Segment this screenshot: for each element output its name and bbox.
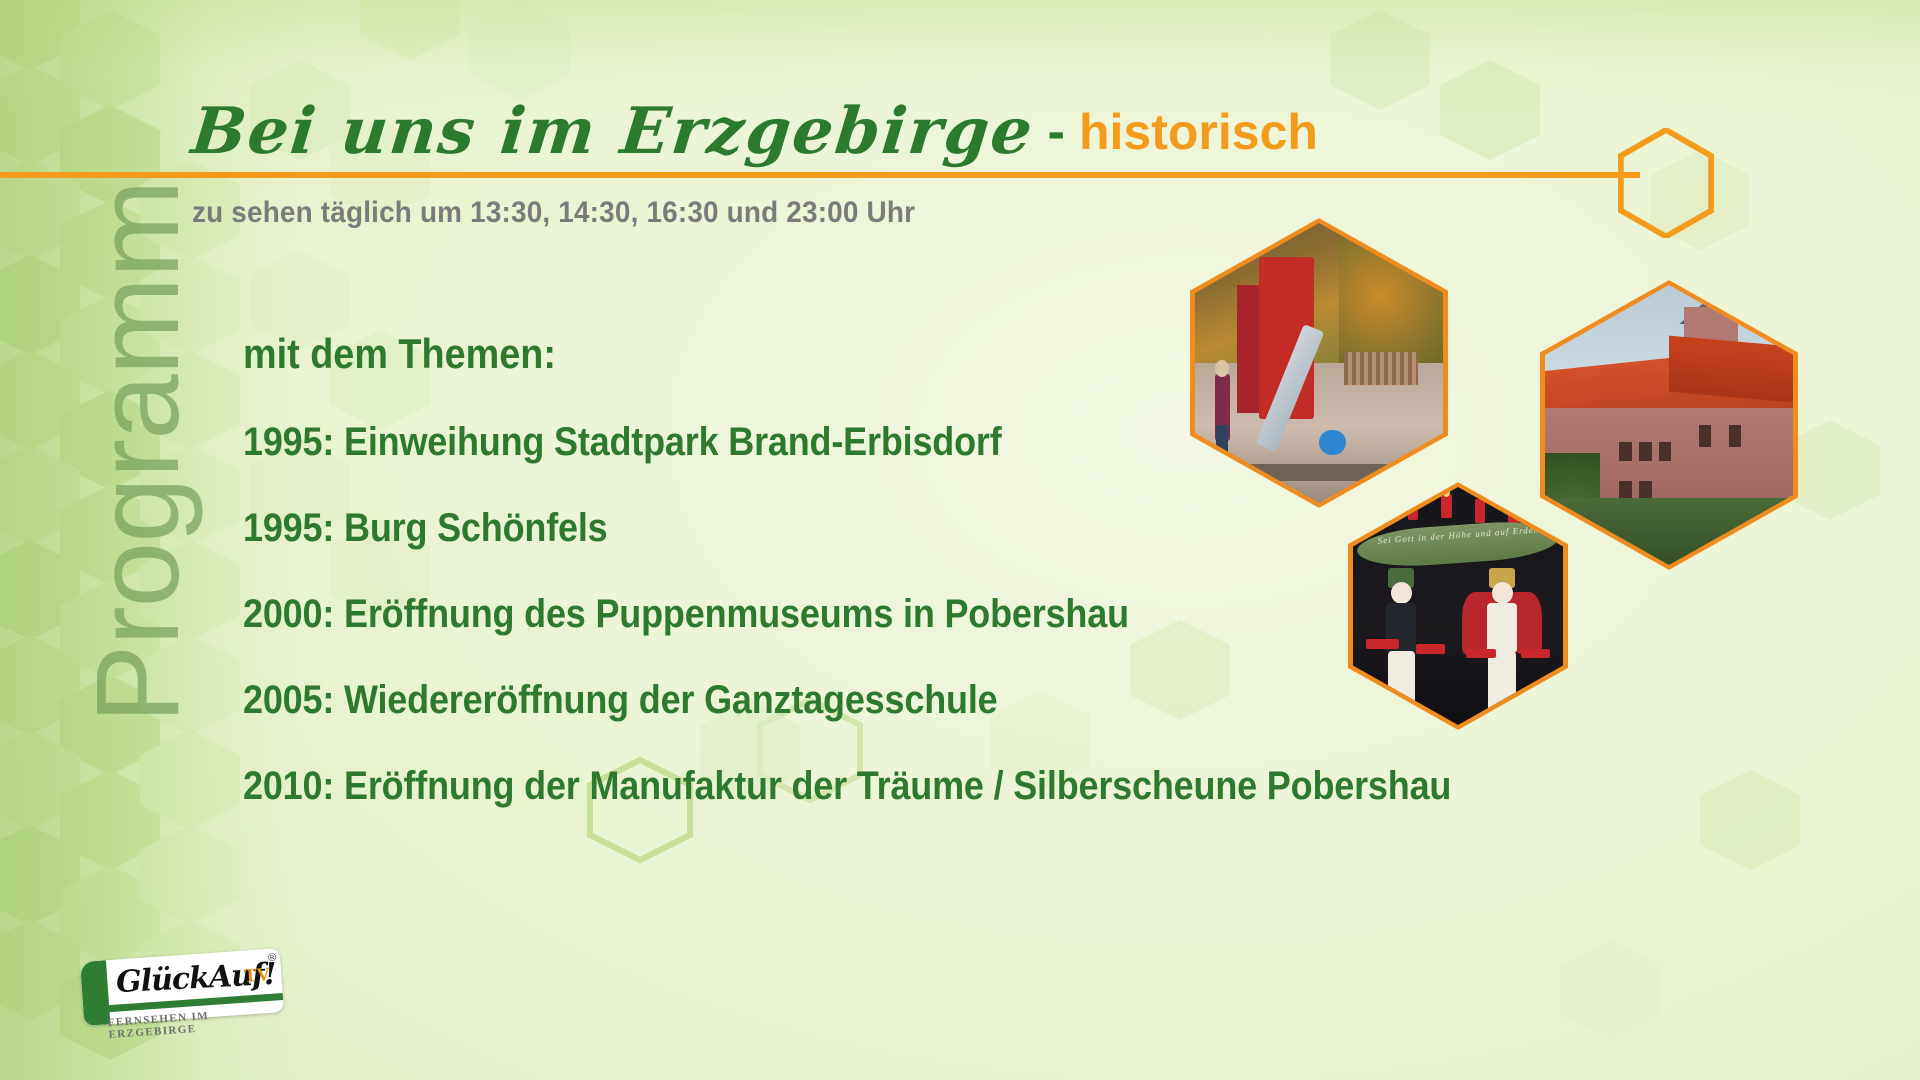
header-divider-rule	[0, 172, 1640, 178]
logo-tv-label: TV	[243, 964, 271, 988]
channel-logo: GlückAuf! TV ® FERNSEHEN IM ERZGEBIRGE	[82, 955, 282, 1035]
divider-hexagon-icon	[1618, 128, 1714, 236]
list-item: 1995: Burg Schönfels	[243, 506, 1451, 551]
list-item: 2000: Eröffnung des Puppenmuseums in Pob…	[243, 592, 1451, 637]
broadcast-graphic-overlay: Programm Bei uns im Erzgebirge - histori…	[0, 0, 1920, 1080]
topics-intro-label: mit dem Themen:	[243, 330, 556, 378]
list-item: 2005: Wiedereröffnung der Ganztagesschul…	[243, 678, 1451, 723]
logo-registered-mark: ®	[268, 952, 277, 965]
broadcast-times-subtitle: zu sehen täglich um 13:30, 14:30, 16:30 …	[192, 196, 915, 230]
sidebar-label-programm: Programm	[70, 132, 206, 772]
logo-green-edge	[80, 960, 110, 1026]
page-title-separator: -	[1034, 102, 1079, 162]
page-title-accent: historisch	[1079, 103, 1318, 161]
list-item: 2010: Eröffnung der Manufaktur der Träum…	[243, 764, 1451, 809]
page-title: Bei uns im Erzgebirge - historisch	[192, 100, 1318, 166]
page-title-main: Bei uns im Erzgebirge	[189, 100, 1037, 164]
